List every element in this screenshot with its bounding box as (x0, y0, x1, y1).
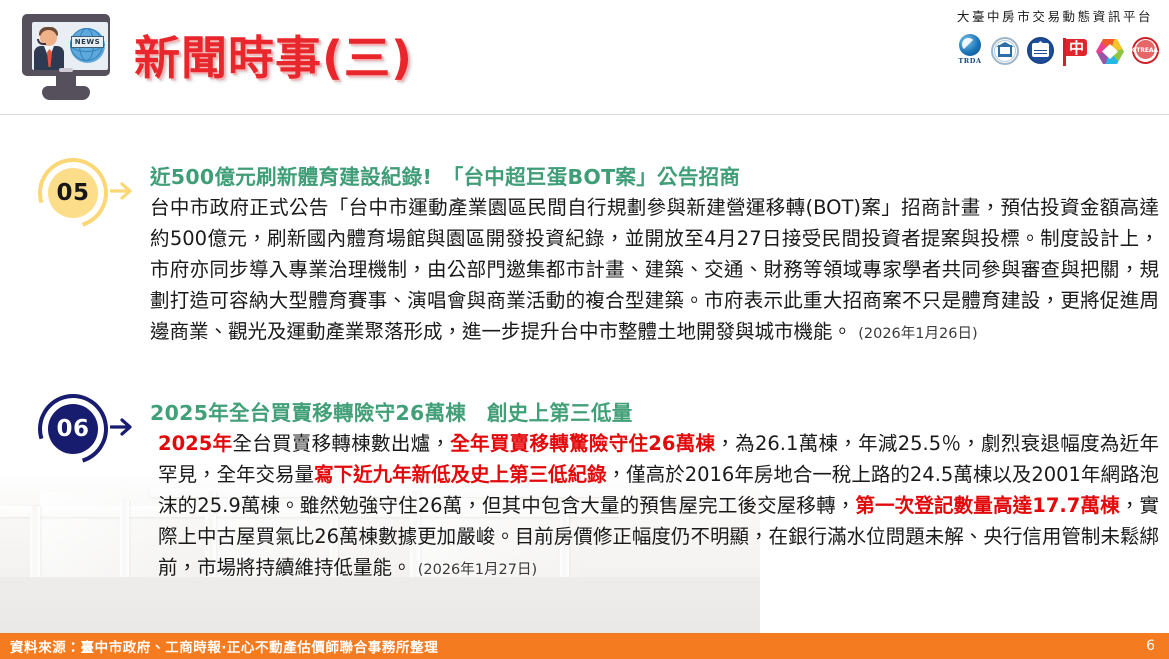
news-date-06: (2026年1月27日) (418, 562, 537, 578)
platform-name: 大臺中房市交易動態資訊平台 (949, 6, 1161, 25)
flag-zhong-logo: 中 (1059, 34, 1091, 70)
news-heading-05: 近500億元刷新體育建設紀錄! 「台中超巨蛋BOT案」公告招商 (150, 160, 1151, 190)
ctreaa-logo-caption: CTREAA (1129, 47, 1161, 54)
ctreaa-logo: CTREAA (1129, 34, 1161, 70)
trda-logo-caption: TRDA (954, 57, 986, 65)
news-heading-06: 2025年全台買賣移轉險守26萬棟 創史上第三低量 (150, 396, 1151, 426)
slide-header: NEWS 新聞時事(三) 大臺中房市交易動態資訊平台 TRDA (0, 0, 1169, 115)
highlight-text: 第一次登記數量高達17.7萬棟 (855, 494, 1119, 517)
house-seal-logo (989, 34, 1021, 70)
news-monitor-icon: NEWS (18, 12, 114, 104)
badge-number-06: 06 (48, 404, 98, 454)
arrow-right-icon (110, 180, 136, 202)
page-number: 6 (1146, 638, 1169, 654)
hexagon-logo (1094, 34, 1126, 70)
arrow-right-icon (110, 416, 136, 438)
highlight-text: 2025年 (158, 432, 232, 455)
news-number-badge-05: 05 (34, 156, 142, 234)
plain-text: 全台買賣移轉棟數出爐， (232, 432, 450, 455)
header-divider (0, 114, 1169, 115)
news-body-text-05: 台中市政府正式公告「台中市運動產業園區民間自行規劃參與新建營運移轉(BOT)案」… (150, 196, 1159, 343)
partner-logo-row: TRDA 中 CTREAA (949, 32, 1161, 70)
news-body-text-06: 2025年全台買賣移轉棟數出爐，全年買賣移轉驚險守住26萬棟，為26.1萬棟，年… (158, 432, 1159, 579)
platform-branding: 大臺中房市交易動態資訊平台 TRDA 中 (949, 6, 1161, 70)
slide-canvas: NEWS 新聞時事(三) 大臺中房市交易動態資訊平台 TRDA (0, 0, 1169, 659)
page-title: 新聞時事(三) (134, 22, 413, 88)
trda-logo: TRDA (954, 34, 986, 70)
source-note: 資料來源：臺中市政府、工商時報‧正心不動產估價師聯合事務所整理 (0, 636, 438, 656)
news-date-05: (2026年1月26日) (858, 326, 977, 342)
news-number-badge-06: 06 (34, 392, 142, 470)
badge-number-05: 05 (48, 168, 98, 218)
news-body-06: 2025年全台買賣移轉棟數出爐，全年買賣移轉驚險守住26萬棟，為26.1萬棟，年… (158, 428, 1159, 586)
news-label: NEWS (71, 36, 104, 48)
footer-bar: 資料來源：臺中市政府、工商時報‧正心不動產估價師聯合事務所整理 6 (0, 633, 1169, 659)
news-body-05: 台中市政府正式公告「台中市運動產業園區民間自行規劃參與新建營運移轉(BOT)案」… (150, 192, 1159, 350)
blue-emblem-logo (1024, 34, 1056, 70)
flag-zhong-logo-glyph: 中 (1066, 38, 1087, 58)
highlight-text: 全年買賣移轉驚險守住26萬棟 (450, 432, 715, 455)
highlight-text: 寫下近九年新低及史上第三低紀錄 (314, 463, 607, 486)
